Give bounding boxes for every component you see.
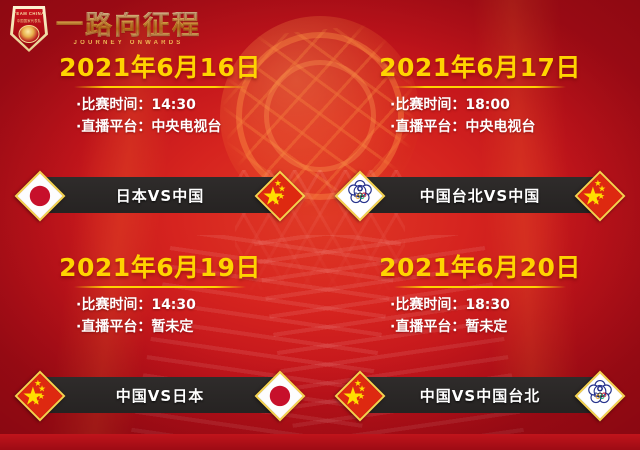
- match-details: ·比赛时间：18:00 ·直播平台：中央电视台: [390, 95, 640, 138]
- crest-emblem-orb: [19, 25, 40, 43]
- match-time-value: 14:30: [151, 297, 196, 313]
- match-time-value: 14:30: [151, 97, 196, 113]
- broadcast-value: 暂未定: [465, 319, 507, 335]
- date-underline: [394, 286, 566, 288]
- broadcast-label: ·直播平台：: [76, 119, 151, 135]
- match-grid: 2021年6月16日 ·比赛时间：14:30 ·直播平台：中央电视台 ★★★★★…: [0, 0, 640, 450]
- broadcast-line: ·直播平台：中央电视台: [76, 117, 320, 139]
- crest-sub-text: 中国国家代表队: [10, 18, 48, 23]
- match-details: ·比赛时间：14:30 ·直播平台：中央电视台: [76, 95, 320, 138]
- match-time-line: ·比赛时间：14:30: [76, 295, 320, 317]
- japan-sun-disc: [30, 186, 50, 206]
- match-details: ·比赛时间：18:30 ·直播平台：暂未定: [390, 295, 640, 338]
- match-time-label: ·比赛时间：: [390, 97, 465, 113]
- match-date: 2021年6月16日: [0, 55, 320, 81]
- match-card: 2021年6月17日 ·比赛时间：18:00 ·直播平台：中央电视台: [320, 55, 640, 235]
- header: TEAM CHINA 中国国家代表队 一路向征程 JOURNEY ONWARDS: [10, 6, 201, 52]
- match-card: 2021年6月20日 ·比赛时间：18:30 ·直播平台：暂未定 ★★★★★: [320, 255, 640, 435]
- broadcast-value: 暂未定: [151, 319, 193, 335]
- match-time-line: ·比赛时间：14:30: [76, 95, 320, 117]
- matchup-banner: ★★★★★ 中国VS日本: [0, 371, 320, 417]
- match-time-label: ·比赛时间：: [76, 97, 151, 113]
- team-china-crest-icon: TEAM CHINA 中国国家代表队: [10, 6, 48, 52]
- page-title: 一路向征程: [56, 12, 201, 39]
- taipei-blossom-emblem: [586, 379, 615, 408]
- japan-sun-disc: [270, 386, 290, 406]
- crest-top-text: TEAM CHINA: [10, 11, 48, 16]
- taipei-blossom-emblem: [346, 179, 375, 208]
- date-underline: [74, 286, 246, 288]
- match-details: ·比赛时间：14:30 ·直播平台：暂未定: [76, 295, 320, 338]
- china-star-4: ★: [352, 399, 360, 408]
- date-underline: [394, 86, 566, 88]
- match-date: 2021年6月17日: [320, 55, 640, 81]
- match-time-value: 18:00: [465, 97, 510, 113]
- china-star-4: ★: [32, 399, 40, 408]
- china-star-4: ★: [592, 199, 600, 208]
- broadcast-value: 中央电视台: [465, 119, 535, 135]
- broadcast-line: ·直播平台：暂未定: [390, 317, 640, 339]
- footer-strip: [0, 434, 640, 450]
- broadcast-label: ·直播平台：: [390, 119, 465, 135]
- match-time-line: ·比赛时间：18:30: [390, 295, 640, 317]
- page-subtitle: JOURNEY ONWARDS: [56, 40, 201, 46]
- match-card: 2021年6月19日 ·比赛时间：14:30 ·直播平台：暂未定 ★★★★★ 中…: [0, 255, 320, 435]
- match-time-label: ·比赛时间：: [76, 297, 151, 313]
- broadcast-value: 中央电视台: [151, 119, 221, 135]
- matchup-banner: ★★★★★: [320, 371, 640, 417]
- date-underline: [74, 86, 246, 88]
- broadcast-line: ·直播平台：暂未定: [76, 317, 320, 339]
- broadcast-label: ·直播平台：: [76, 319, 151, 335]
- matchup-banner: ★★★★★ 日本VS中国: [0, 171, 320, 217]
- title-block: 一路向征程 JOURNEY ONWARDS: [56, 12, 201, 46]
- match-date: 2021年6月19日: [0, 255, 320, 281]
- match-date: 2021年6月20日: [320, 255, 640, 281]
- broadcast-line: ·直播平台：中央电视台: [390, 117, 640, 139]
- match-time-line: ·比赛时间：18:00: [390, 95, 640, 117]
- match-time-label: ·比赛时间：: [390, 297, 465, 313]
- match-card: 2021年6月16日 ·比赛时间：14:30 ·直播平台：中央电视台 ★★★★★…: [0, 55, 320, 235]
- matchup-banner: ★★★★★ 中国台北VS中国: [320, 171, 640, 217]
- match-time-value: 18:30: [465, 297, 510, 313]
- broadcast-label: ·直播平台：: [390, 319, 465, 335]
- china-star-4: ★: [272, 199, 280, 208]
